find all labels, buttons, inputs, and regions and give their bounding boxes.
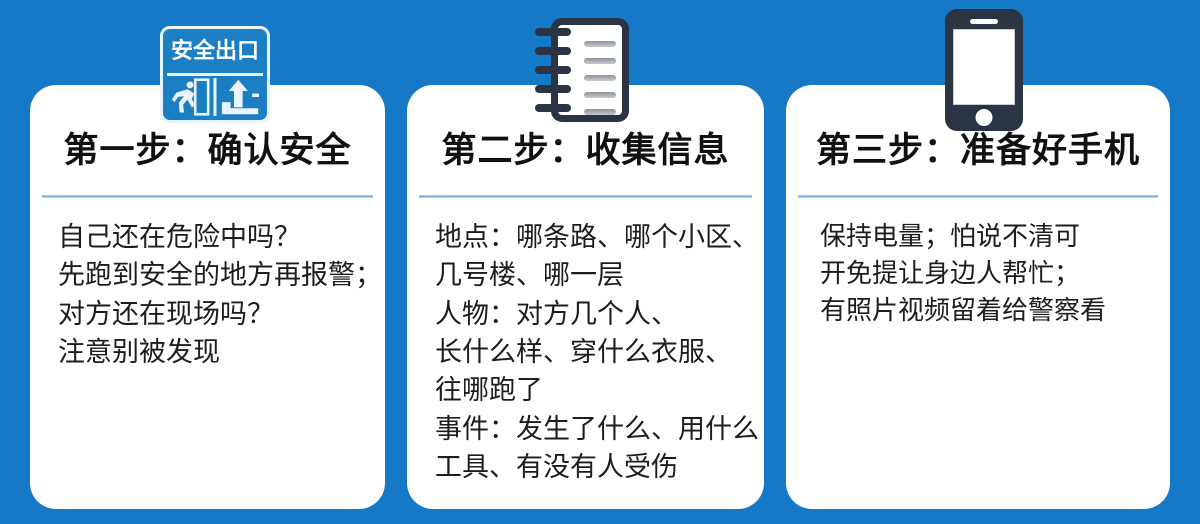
- body-line: 地点：哪条路、哪个小区、: [435, 218, 748, 256]
- phone-screen: [953, 29, 1015, 105]
- body-line: 工具、有没有人受伤: [435, 448, 748, 486]
- card-step-2-title: 第二步：收集信息: [407, 133, 764, 168]
- body-line: 事件：发生了什么、用什么: [435, 410, 748, 448]
- card-step-3[interactable]: 第三步：准备好手机 保持电量；怕说不清可 开免提让身边人帮忙； 有照片视频留着给…: [786, 85, 1170, 509]
- phone-body: [945, 9, 1023, 131]
- card-step-1[interactable]: 第一步：确认安全 自己还在危险中吗？ 先跑到安全的地方再报警； 对方还在现场吗？…: [30, 85, 385, 509]
- running-man-pictogram-icon: [167, 78, 213, 116]
- notebook-ring: [535, 28, 571, 36]
- card-step-3-body: 保持电量；怕说不清可 开免提让身边人帮忙； 有照片视频留着给警察看: [820, 218, 1154, 329]
- card-step-2-divider: [419, 195, 752, 198]
- exit-sign-label: 安全出口: [171, 40, 259, 62]
- notebook-ring: [535, 47, 571, 55]
- notebook-ring: [535, 85, 571, 93]
- notebook-line: [584, 92, 616, 98]
- exit-arrow-stairs-icon: [217, 78, 263, 116]
- body-line: 几号楼、哪一层: [435, 256, 748, 294]
- card-step-1-title: 第一步：确认安全: [30, 133, 385, 168]
- poster-canvas: 第一步：确认安全 自己还在危险中吗？ 先跑到安全的地方再报警； 对方还在现场吗？…: [0, 0, 1200, 524]
- exit-sign-label-area: 安全出口: [163, 29, 267, 73]
- notebook-icon: [533, 14, 631, 126]
- card-step-3-divider: [798, 195, 1158, 198]
- exit-sign-frame: 安全出口: [160, 26, 270, 123]
- notebook-lines: [584, 41, 616, 126]
- notebook-line: [584, 109, 616, 115]
- body-line: 开免提让身边人帮忙；: [820, 255, 1154, 292]
- body-line: 长什么样、穿什么衣服、: [435, 333, 748, 371]
- notebook-line: [584, 41, 616, 47]
- card-step-2-body: 地点：哪条路、哪个小区、 几号楼、哪一层 人物：对方几个人、 长什么样、穿什么衣…: [435, 218, 748, 486]
- notebook-line: [584, 75, 616, 81]
- phone-speaker-icon: [970, 19, 998, 24]
- notebook-line: [584, 58, 616, 64]
- exit-sign-pictograms: [167, 78, 263, 116]
- body-line: 对方还在现场吗？: [58, 295, 369, 333]
- body-line: 保持电量；怕说不清可: [820, 218, 1154, 255]
- card-step-1-divider: [42, 195, 373, 198]
- notebook-ring: [535, 66, 571, 74]
- body-line: 注意别被发现: [58, 333, 369, 371]
- exit-sign-separator: [167, 73, 263, 76]
- phone-home-button: [976, 109, 993, 126]
- card-step-1-body: 自己还在危险中吗？ 先跑到安全的地方再报警； 对方还在现场吗？ 注意别被发现: [58, 218, 369, 371]
- emergency-exit-sign-icon: 安全出口: [160, 26, 270, 123]
- body-line: 有照片视频留着给警察看: [820, 292, 1154, 329]
- card-step-2[interactable]: 第二步：收集信息 地点：哪条路、哪个小区、 几号楼、哪一层 人物：对方几个人、 …: [407, 85, 764, 509]
- smartphone-icon: [945, 9, 1023, 131]
- card-step-3-title: 第三步：准备好手机: [786, 133, 1170, 168]
- body-line: 先跑到安全的地方再报警；: [58, 256, 369, 294]
- notebook-ring: [535, 104, 571, 112]
- body-line: 往哪跑了: [435, 371, 748, 409]
- body-line: 自己还在危险中吗？: [58, 218, 369, 256]
- body-line: 人物：对方几个人、: [435, 295, 748, 333]
